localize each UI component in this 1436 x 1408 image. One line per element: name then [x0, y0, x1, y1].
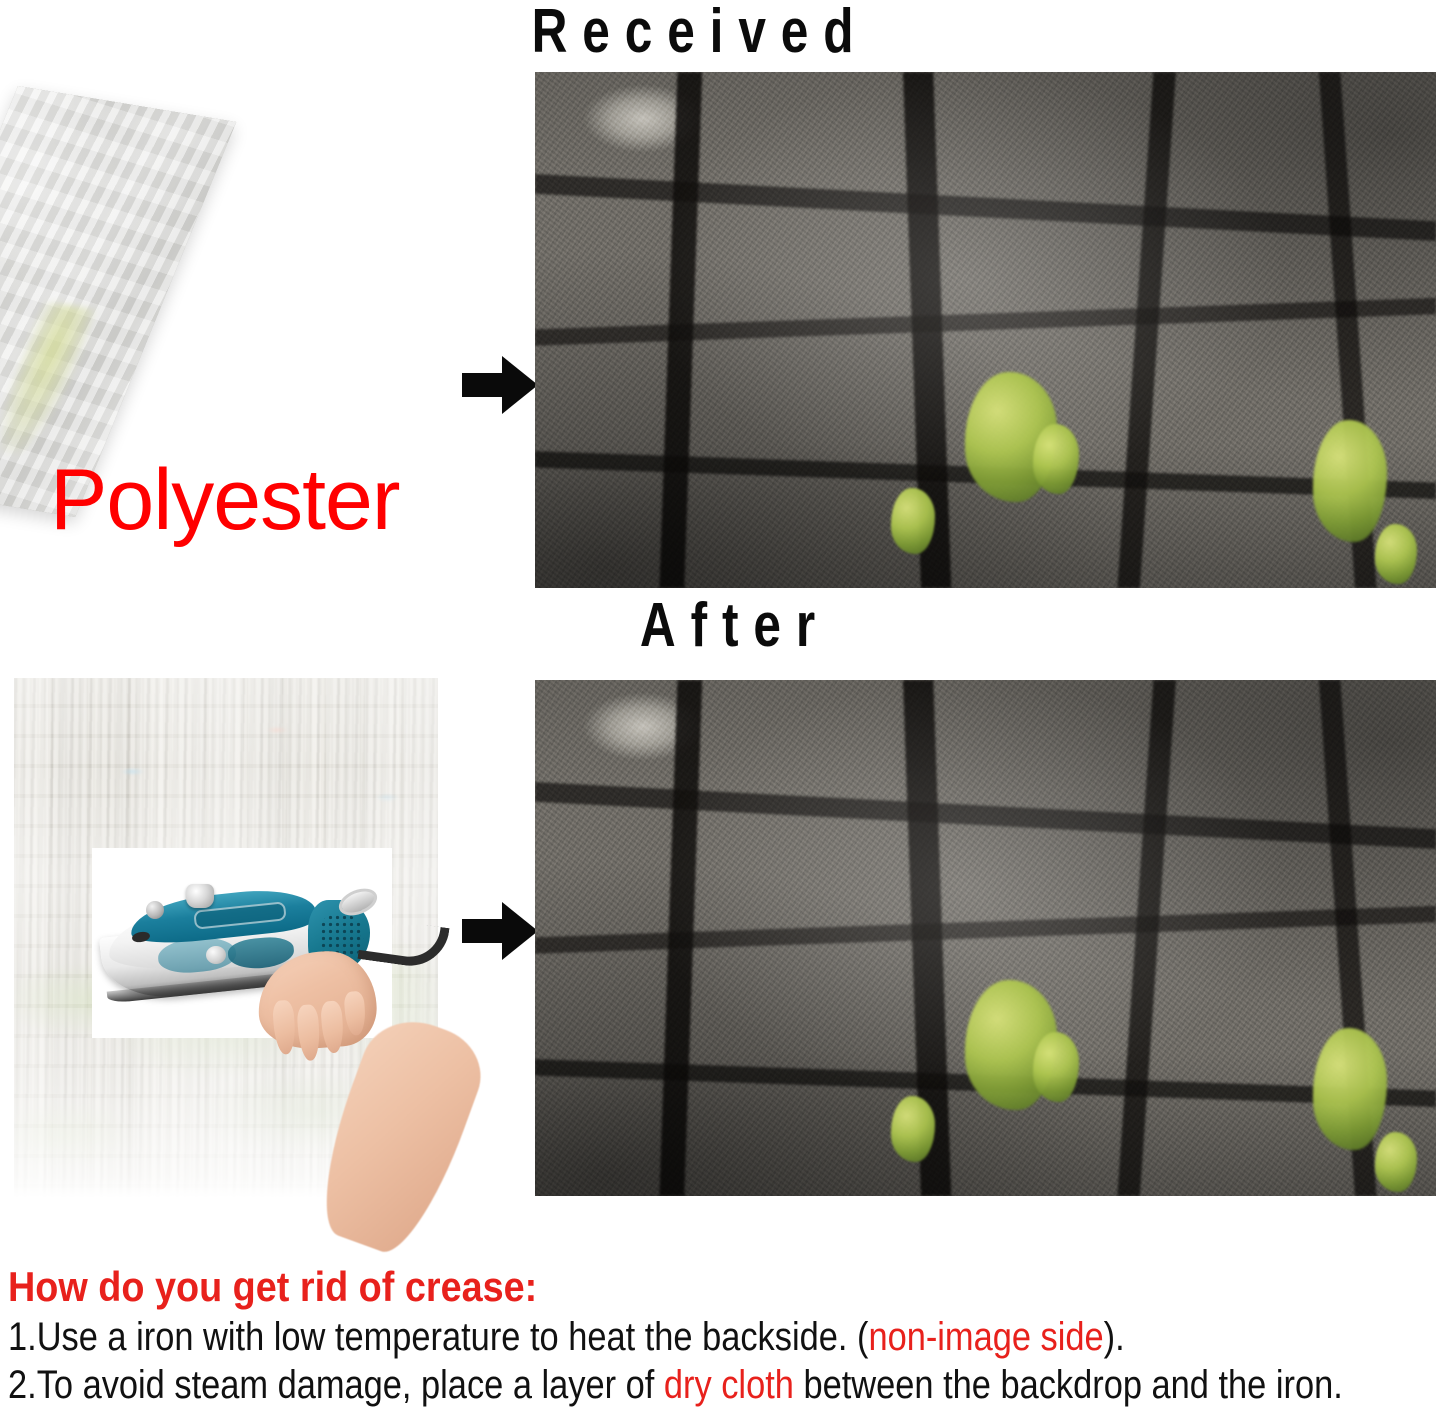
foliage-cluster [1375, 1132, 1417, 1192]
instructions-heading: How do you get rid of crease: [8, 1262, 1290, 1312]
foliage-cluster [1313, 1028, 1387, 1150]
foliage-cluster [1033, 424, 1079, 494]
arrow-right-icon [462, 902, 538, 960]
instruction-2-text-b: between the backdrop and the iron. [794, 1363, 1343, 1407]
instruction-1-text-a: 1.Use a iron with low temperature to hea… [8, 1315, 868, 1359]
arrow-shaft [462, 373, 506, 397]
folded-fabric-sample [18, 86, 418, 496]
arrow-head [502, 902, 538, 960]
after-backdrop-photo [535, 680, 1436, 1196]
iron-steam-knob [186, 884, 214, 908]
instruction-2-highlight: dry cloth [664, 1363, 794, 1407]
iron-demo-inset [92, 848, 392, 1038]
after-section-title: After [563, 592, 907, 660]
foliage-cluster [891, 488, 935, 554]
received-backdrop-photo [535, 72, 1436, 588]
iron-button [206, 946, 226, 964]
foliage-cluster [1375, 524, 1417, 584]
finger [320, 1000, 345, 1053]
foliage-cluster [1313, 420, 1387, 542]
instruction-1-highlight: non-image side [868, 1315, 1103, 1359]
arrow-shaft [462, 919, 506, 943]
finger [344, 991, 367, 1036]
foliage-cluster [1033, 1032, 1079, 1102]
received-section-title: Received [484, 0, 916, 66]
rock-shading [535, 680, 1436, 1196]
arrow-head [502, 356, 538, 414]
care-instructions: How do you get rid of crease: 1.Use a ir… [8, 1262, 1432, 1408]
instruction-line-1: 1.Use a iron with low temperature to hea… [8, 1314, 1233, 1360]
iron-dial [146, 901, 164, 919]
instruction-1-text-b: ). [1104, 1315, 1125, 1359]
polyester-material-label: Polyester [50, 455, 400, 545]
instruction-line-2: 2.To avoid steam damage, place a layer o… [8, 1362, 1233, 1408]
rock-shading [535, 72, 1436, 588]
steam-iron-icon [102, 876, 360, 988]
arrow-right-icon [462, 356, 538, 414]
instruction-2-text-a: 2.To avoid steam damage, place a layer o… [8, 1363, 664, 1407]
foliage-cluster [891, 1096, 935, 1162]
